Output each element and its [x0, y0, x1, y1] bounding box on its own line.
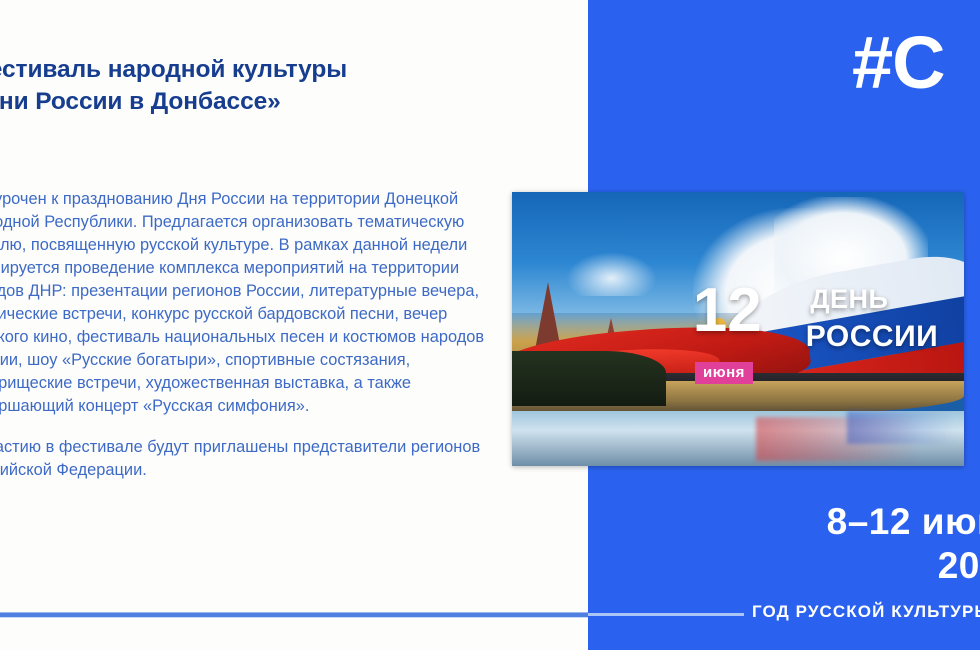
photo-cloud: [566, 252, 656, 296]
panel-caption: ГОД РУССКОЙ КУЛЬТУРЫ: [752, 602, 980, 622]
photo-headline-line-2: РОССИИ: [806, 321, 938, 353]
page-title: Фестиваль народной культуры «Дни России …: [0, 54, 488, 119]
body-paragraph-2: К участию в фестивале будут приглашены п…: [0, 436, 494, 482]
body-copy: Приурочен к празднованию Дня России на т…: [0, 188, 494, 482]
event-photo: 12 июня ДЕНЬ РОССИИ: [512, 192, 964, 466]
event-year: 2022: [692, 544, 980, 588]
page-title-line-1: Фестиваль народной культуры: [0, 54, 488, 86]
photo-day-number: 12: [693, 282, 762, 339]
hashtag-label: #С: [852, 26, 945, 100]
caption-rule: [588, 613, 744, 616]
presentation-slide: Фестиваль народной культуры «Дни России …: [0, 0, 980, 650]
photo-riverbank: [512, 351, 666, 406]
body-paragraph-1: Приурочен к празднованию Дня России на т…: [0, 188, 494, 418]
photo-month-badge: июня: [695, 362, 753, 384]
page-title-line-2: «Дни России в Донбассе»: [0, 86, 488, 118]
event-date-range: 8–12 июня: [692, 500, 980, 544]
photo-reflection: [847, 411, 955, 444]
event-dates: 8–12 июня 2022: [692, 500, 980, 587]
photo-headline-line-1: ДЕНЬ: [810, 285, 888, 314]
footer-divider: [0, 612, 588, 618]
